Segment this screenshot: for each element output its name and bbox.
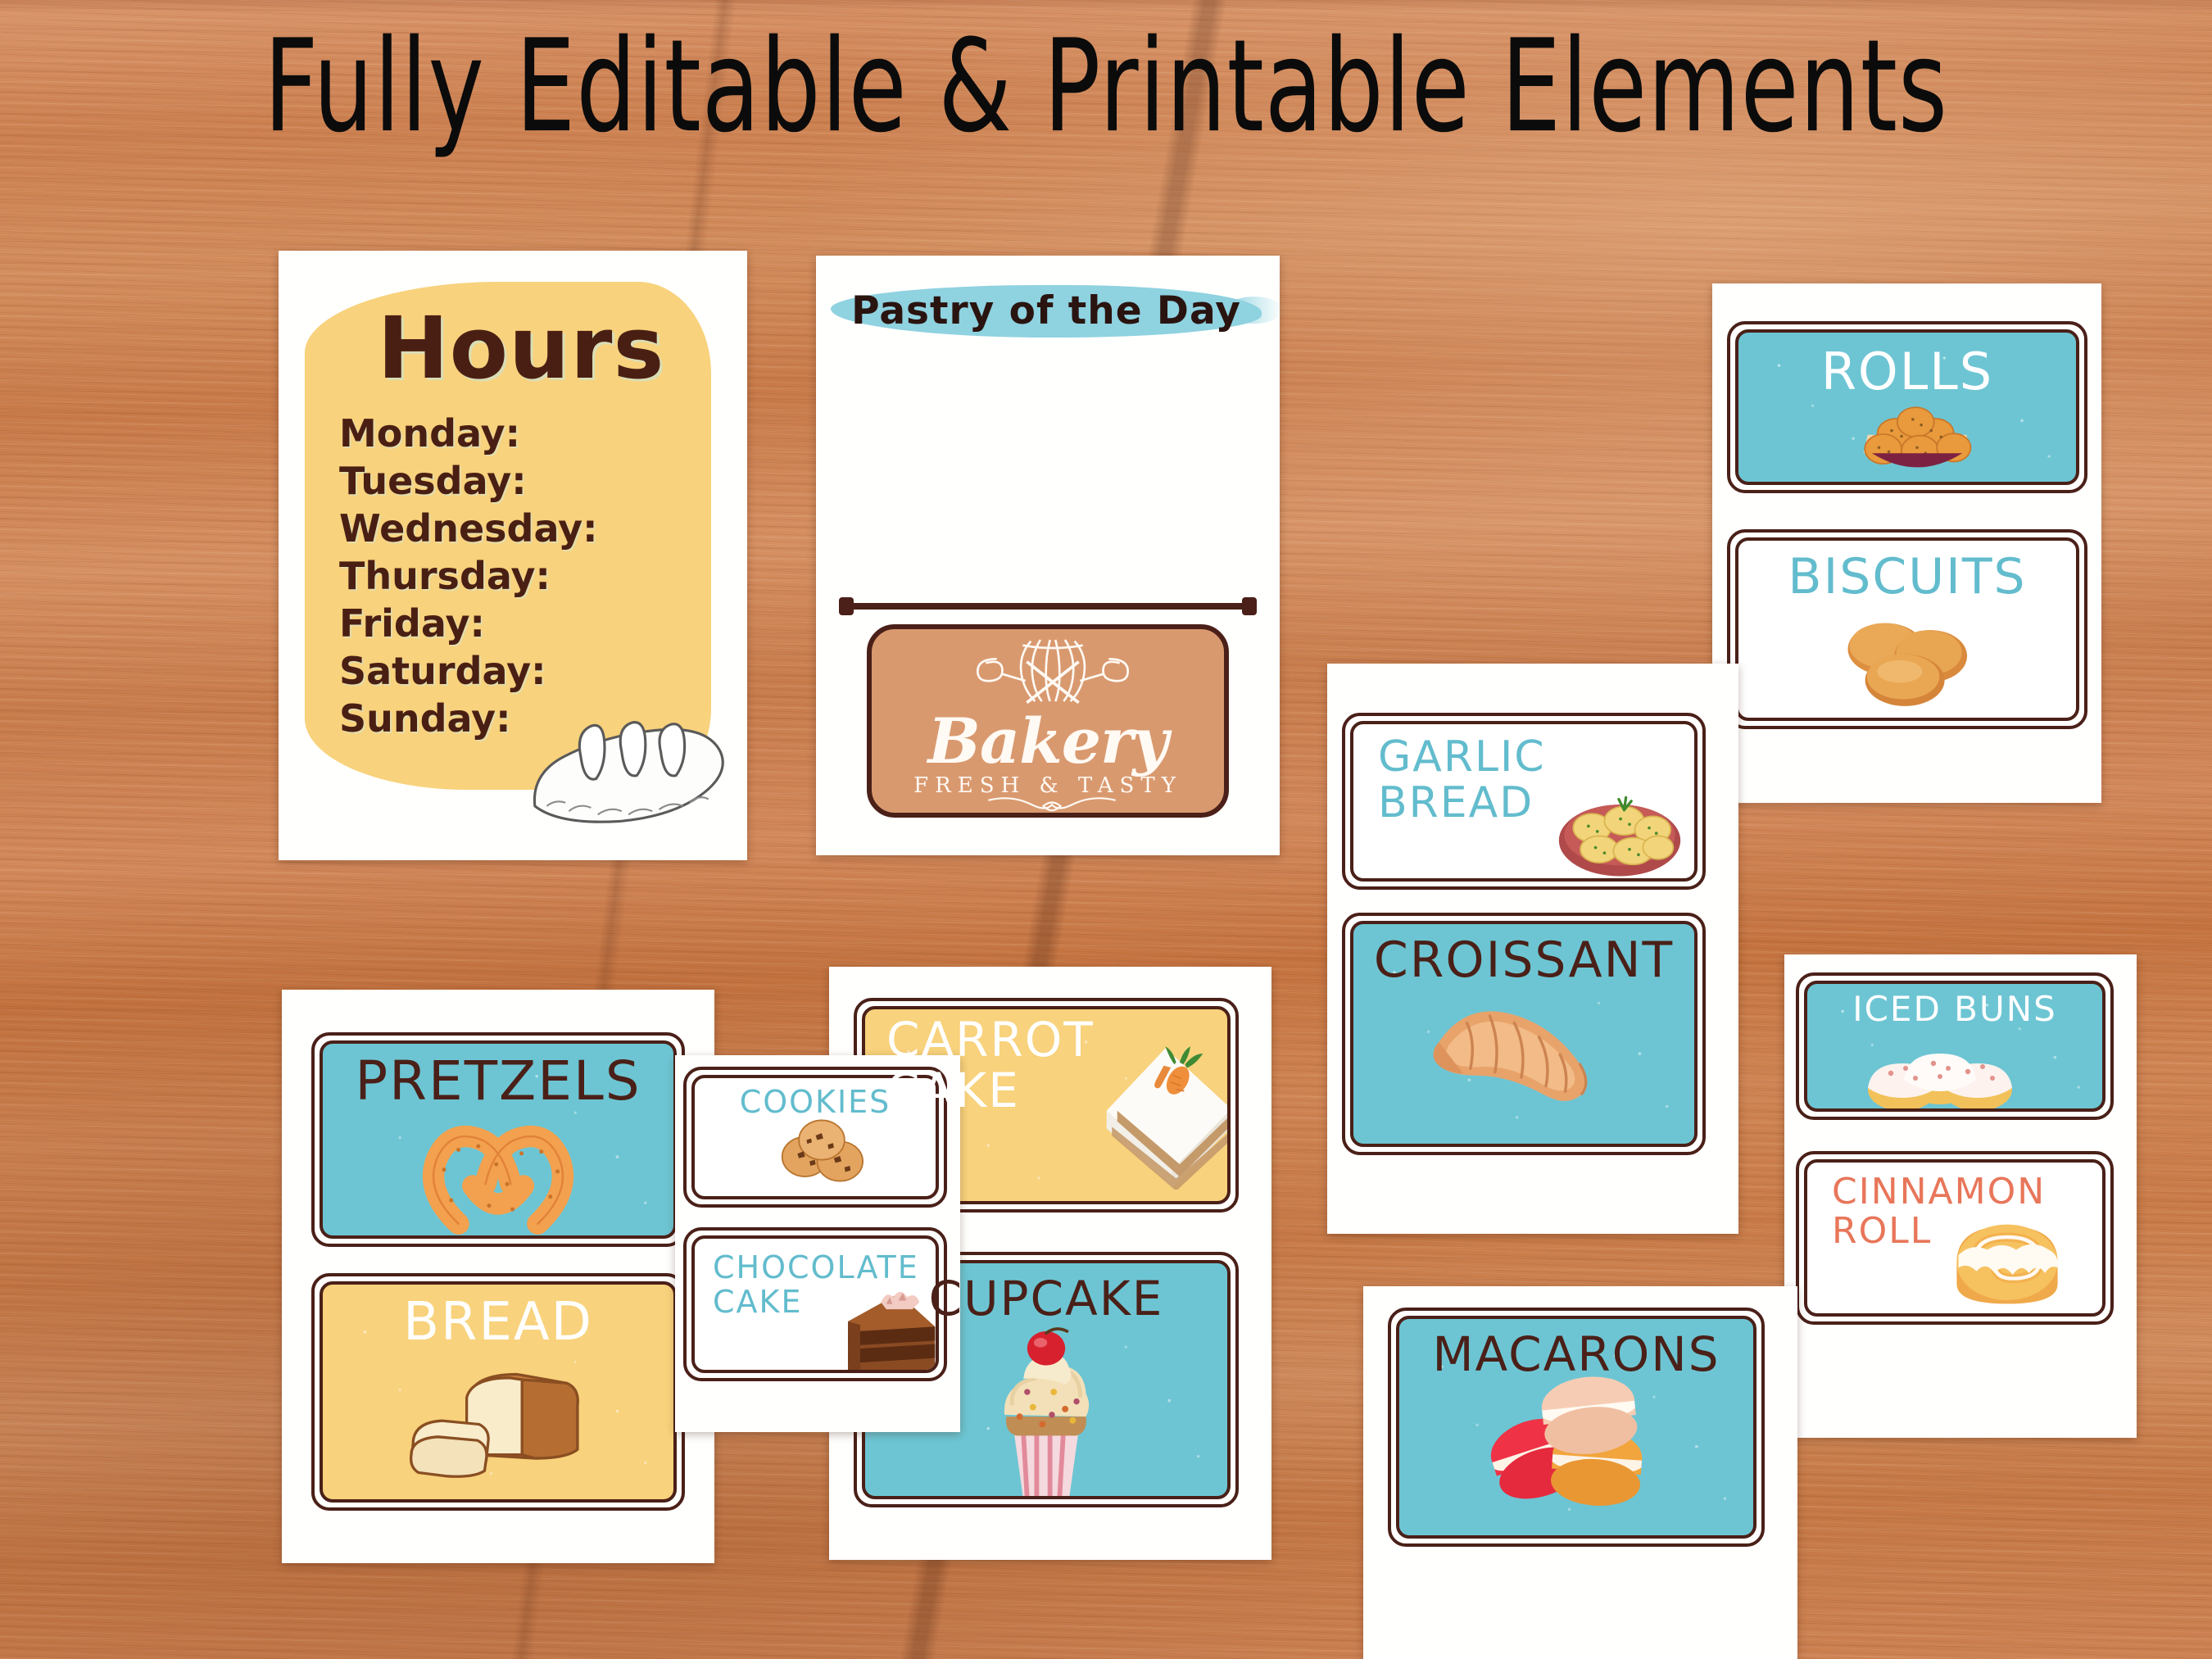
hours-day-monday: Monday: (339, 411, 520, 456)
hours-day-thursday: Thursday: (339, 554, 551, 598)
sheet-pretzels-bread: PRETZELS B (282, 990, 714, 1563)
label-card-biscuits[interactable]: BISCUITS (1727, 529, 2087, 729)
label-card-chocolate-cake-text-line2: CAKE (695, 1286, 936, 1318)
bowl-of-rolls-icon (1835, 398, 1999, 485)
sheet-buns-cinnamon: ICED BUNS CINNAMON ROLL (1784, 954, 2137, 1438)
label-card-rolls[interactable]: ROLLS (1727, 321, 2087, 493)
label-card-chocolate-cake[interactable]: CHOCOLATE CAKE (683, 1227, 947, 1381)
label-card-biscuits-inner: BISCUITS (1735, 537, 2079, 721)
label-card-pretzels-inner: PRETZELS (320, 1040, 677, 1239)
macarons-icon (1471, 1376, 1668, 1521)
biscuits-icon (1825, 613, 1981, 708)
label-card-cinnamon-roll[interactable]: CINNAMON ROLL (1796, 1151, 2114, 1325)
hours-heading: Hours (357, 298, 685, 398)
label-card-garlic-bread[interactable]: GARLIC BREAD (1342, 713, 1706, 890)
flourish-ornament-icon (970, 793, 1134, 818)
bread-loaf-icon (392, 1355, 588, 1483)
hours-day-sunday: Sunday: (339, 696, 511, 741)
label-card-iced-buns[interactable]: ICED BUNS (1796, 972, 2114, 1120)
sheet-rolls-biscuits: ROLLS (1712, 283, 2101, 803)
label-card-carrot-cake-text-line1: CARROT (865, 1016, 1227, 1064)
sheet-cookies-chocolate: COOKIES CHOCOLATE CAKE (675, 1055, 960, 1432)
pretzel-icon (408, 1113, 588, 1239)
label-card-iced-buns-inner: ICED BUNS (1804, 981, 2105, 1112)
label-card-croissant[interactable]: CROISSANT (1342, 913, 1706, 1155)
label-card-croissant-text: CROISSANT (1353, 936, 1694, 986)
label-card-cookies[interactable]: COOKIES (683, 1067, 947, 1208)
label-card-bread-text: BREAD (323, 1296, 673, 1349)
bread-loaf-sketch-icon (516, 700, 737, 829)
label-card-garlic-bread-inner: GARLIC BREAD (1350, 721, 1698, 882)
label-card-biscuits-text: BISCUITS (1738, 552, 2076, 602)
pastry-heading: Pastry of the Day (831, 288, 1262, 333)
sheet-pastry-of-the-day: Pastry of the Day Bakery FRESH & TASTY (816, 256, 1280, 855)
sheet-hours: Hours Monday: Tuesday: Wednesday: Thursd… (279, 251, 747, 860)
label-card-garlic-bread-text-line1: GARLIC (1353, 736, 1694, 779)
label-card-macarons-text: MACARONS (1399, 1330, 1753, 1379)
label-card-cookies-text: COOKIES (695, 1086, 936, 1118)
iced-buns-icon (1858, 1030, 2022, 1112)
label-card-pretzels[interactable]: PRETZELS (311, 1032, 685, 1247)
label-card-macarons-inner: MACARONS (1396, 1316, 1756, 1539)
label-card-bread-inner: BREAD (320, 1281, 677, 1503)
label-card-cookies-inner: COOKIES (691, 1075, 939, 1199)
label-card-garlic-bread-text-line2: BREAD (1353, 782, 1694, 825)
label-card-bread[interactable]: BREAD (311, 1273, 685, 1511)
sheet-garlic-croissant: GARLIC BREAD (1327, 664, 1738, 1234)
croissant-icon (1411, 991, 1607, 1114)
label-card-pretzels-text: PRETZELS (323, 1054, 673, 1108)
hours-day-saturday: Saturday: (339, 649, 546, 693)
pastry-divider-rule (845, 603, 1250, 610)
label-card-chocolate-cake-text-line1: CHOCOLATE (695, 1252, 936, 1284)
label-card-rolls-text: ROLLS (1738, 346, 2076, 397)
bakery-logo-word: Bakery (872, 705, 1224, 777)
chocolate-chip-cookies-icon (768, 1114, 875, 1198)
label-card-cinnamon-roll-text-line1: CINNAMON (1807, 1174, 2102, 1211)
sheet-macarons: MACARONS (1363, 1286, 1797, 1659)
label-card-iced-buns-text: ICED BUNS (1807, 992, 2102, 1027)
bakery-logo: Bakery FRESH & TASTY (867, 624, 1229, 818)
label-card-chocolate-cake-inner: CHOCOLATE CAKE (691, 1235, 939, 1373)
page-title: Fully Editable & Printable Elements (78, 23, 2135, 151)
label-card-croissant-inner: CROISSANT (1350, 921, 1698, 1147)
label-card-rolls-inner: ROLLS (1735, 329, 2079, 485)
hours-day-tuesday: Tuesday: (339, 459, 527, 503)
hours-day-wednesday: Wednesday: (339, 506, 598, 551)
label-card-cinnamon-roll-text-line2: ROLL (1807, 1213, 2102, 1250)
label-card-macarons[interactable]: MACARONS (1388, 1308, 1765, 1547)
hours-day-friday: Friday: (339, 601, 485, 646)
label-card-cinnamon-roll-inner: CINNAMON ROLL (1804, 1159, 2105, 1317)
cupcake-icon (968, 1326, 1124, 1499)
